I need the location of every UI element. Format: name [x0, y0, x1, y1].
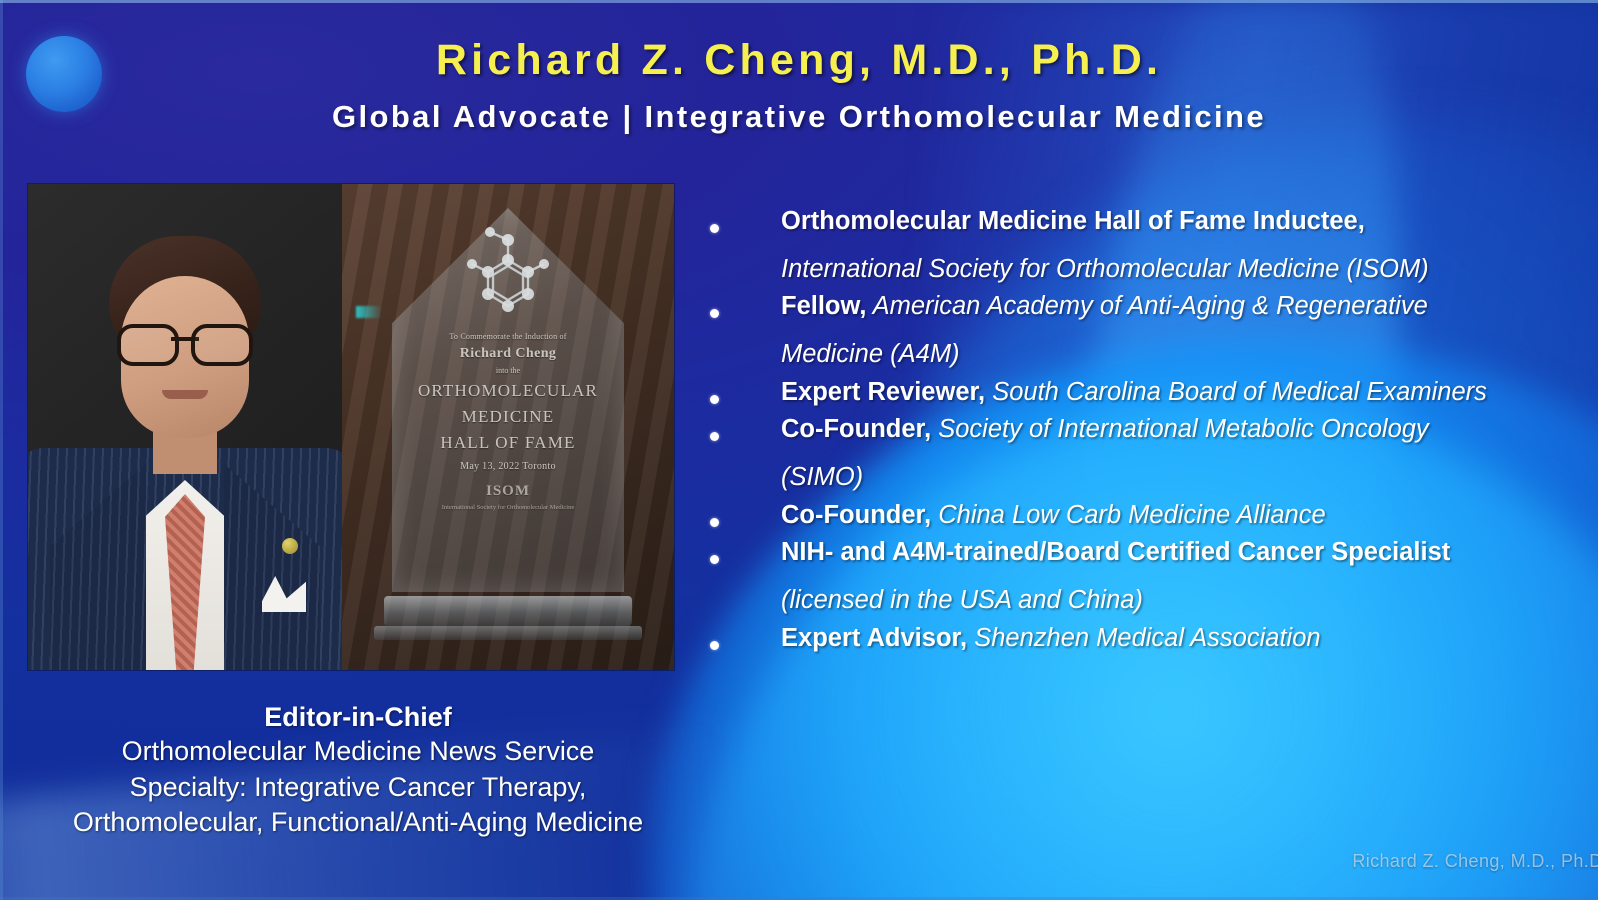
engraving-line-3: into the [408, 366, 608, 376]
award-light-glint [356, 306, 382, 318]
text-segment: (licensed in the USA and China) [781, 586, 1143, 614]
watermark-text: Richard Z. Cheng, M.D., Ph.D. [1352, 851, 1598, 872]
text-segment: Expert Reviewer, [781, 378, 985, 406]
award-base-lower [374, 626, 642, 640]
portrait-glasses-icon [117, 324, 253, 358]
list-item: Co-Founder, China Low Carb Medicine Alli… [700, 499, 1584, 533]
text-segment: Co-Founder, [781, 415, 931, 443]
engraving-honoree: Richard Cheng [408, 345, 608, 363]
glasses-lens-left [117, 324, 179, 366]
photo-caption: Editor-in-Chief Orthomolecular Medicine … [0, 700, 716, 841]
list-item-text: Expert Reviewer, South Carolina Board of… [781, 376, 1584, 410]
caption-line-2: Specialty: Integrative Cancer Therapy, [0, 770, 716, 806]
presentation-slide: Richard Z. Cheng, M.D., Ph.D. Global Adv… [0, 0, 1598, 900]
bullet-dot-icon [710, 518, 719, 527]
page-title: Richard Z. Cheng, M.D., Ph.D. [0, 38, 1598, 83]
engraving-line-1: To Commemorate the Induction of [408, 332, 608, 342]
engraving-line-6: HALL OF FAME [408, 433, 608, 454]
award-photo: To Commemorate the Induction of Richard … [342, 184, 674, 670]
text-segment: China Low Carb Medicine Alliance [931, 501, 1326, 529]
list-item: Expert Reviewer, South Carolina Board of… [700, 376, 1584, 410]
text-segment: NIH- and A4M-trained/Board Certified Can… [781, 538, 1450, 566]
bullet-dot-icon [710, 432, 719, 441]
text-segment: Society of International Metabolic Oncol… [931, 415, 1429, 443]
text-segment: Fellow, [781, 292, 866, 320]
glasses-lens-right [191, 324, 253, 366]
bullet-dot-icon [710, 395, 719, 404]
list-item-text: NIH- and A4M-trained/Board Certified Can… [781, 536, 1584, 617]
engraving-date: May 13, 2022 Toronto [408, 461, 608, 474]
caption-line-3: Orthomolecular, Functional/Anti-Aging Me… [0, 805, 716, 841]
list-item: Co-Founder, Society of International Met… [700, 413, 1584, 494]
engraving-org-name: International Society for Orthomolecular… [408, 504, 608, 512]
engraving-line-4: ORTHOMOLECULAR [408, 381, 608, 402]
text-segment: Expert Advisor, [781, 624, 967, 652]
caption-role: Editor-in-Chief [0, 700, 716, 734]
list-item: Orthomolecular Medicine Hall of Fame Ind… [700, 205, 1584, 286]
list-item: NIH- and A4M-trained/Board Certified Can… [700, 536, 1584, 617]
text-segment: International Society for Orthomolecular… [781, 255, 1429, 283]
list-item: Fellow, American Academy of Anti-Aging &… [700, 290, 1584, 371]
photo-composite: To Commemorate the Induction of Richard … [28, 184, 674, 670]
portrait-photo [28, 184, 342, 670]
portrait-lapel-pin-icon [282, 538, 298, 554]
isom-logo-icon: ISOM [408, 482, 608, 501]
portrait-mouth [162, 390, 208, 399]
list-item-text: Fellow, American Academy of Anti-Aging &… [781, 290, 1584, 371]
slide-heading-block: Richard Z. Cheng, M.D., Ph.D. Global Adv… [0, 38, 1598, 134]
list-item-text: Co-Founder, Society of International Met… [781, 413, 1584, 494]
award-base-upper [384, 596, 632, 626]
engraving-line-5: MEDICINE [408, 407, 608, 428]
text-segment: Shenzhen Medical Association [967, 624, 1320, 652]
page-subtitle: Global Advocate | Integrative Orthomolec… [0, 101, 1598, 134]
caption-line-1: Orthomolecular Medicine News Service [0, 734, 716, 770]
text-segment: South Carolina Board of Medical Examiner… [985, 378, 1487, 406]
text-segment: American Academy of Anti-Aging & Regener… [866, 292, 1427, 320]
list-item-text: Co-Founder, China Low Carb Medicine Alli… [781, 499, 1584, 533]
bullet-dot-icon [710, 641, 719, 650]
list-item: Expert Advisor, Shenzhen Medical Associa… [700, 622, 1584, 656]
award-engraving-text: To Commemorate the Induction of Richard … [408, 332, 608, 512]
text-segment: (SIMO) [781, 463, 863, 491]
bullet-dot-icon [710, 224, 719, 233]
bullet-dot-icon [710, 309, 719, 318]
credentials-list: Orthomolecular Medicine Hall of Fame Ind… [700, 205, 1584, 659]
text-segment: Medicine (A4M) [781, 340, 960, 368]
text-segment: Orthomolecular Medicine Hall of Fame Ind… [781, 207, 1365, 235]
bullet-dot-icon [710, 555, 719, 564]
molecule-icon [460, 226, 556, 318]
text-segment: Co-Founder, [781, 501, 931, 529]
list-item-text: Expert Advisor, Shenzhen Medical Associa… [781, 622, 1584, 656]
list-item-text: Orthomolecular Medicine Hall of Fame Ind… [781, 205, 1584, 286]
